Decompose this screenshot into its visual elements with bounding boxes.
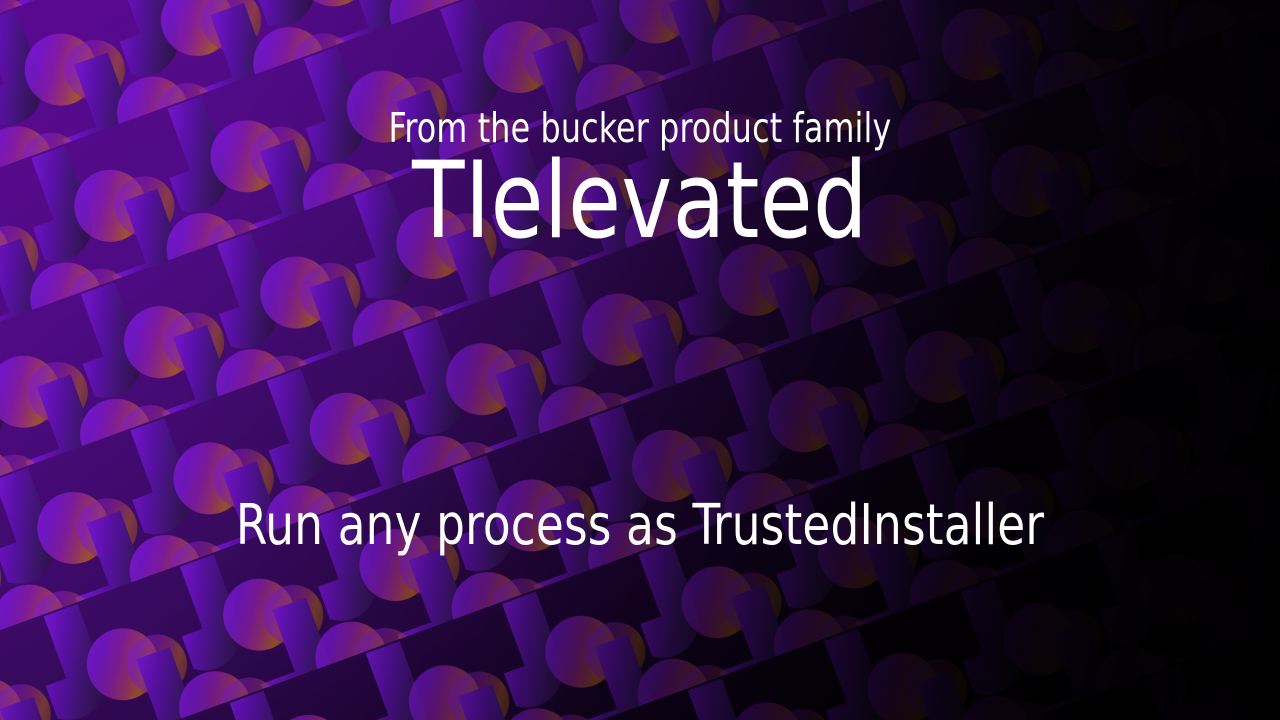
promo-banner: From the bucker product family TIelevate…: [0, 0, 1280, 720]
product-title: TIelevated: [64, 140, 1216, 262]
product-tagline: Run any process as TrustedInstaller: [64, 489, 1216, 563]
